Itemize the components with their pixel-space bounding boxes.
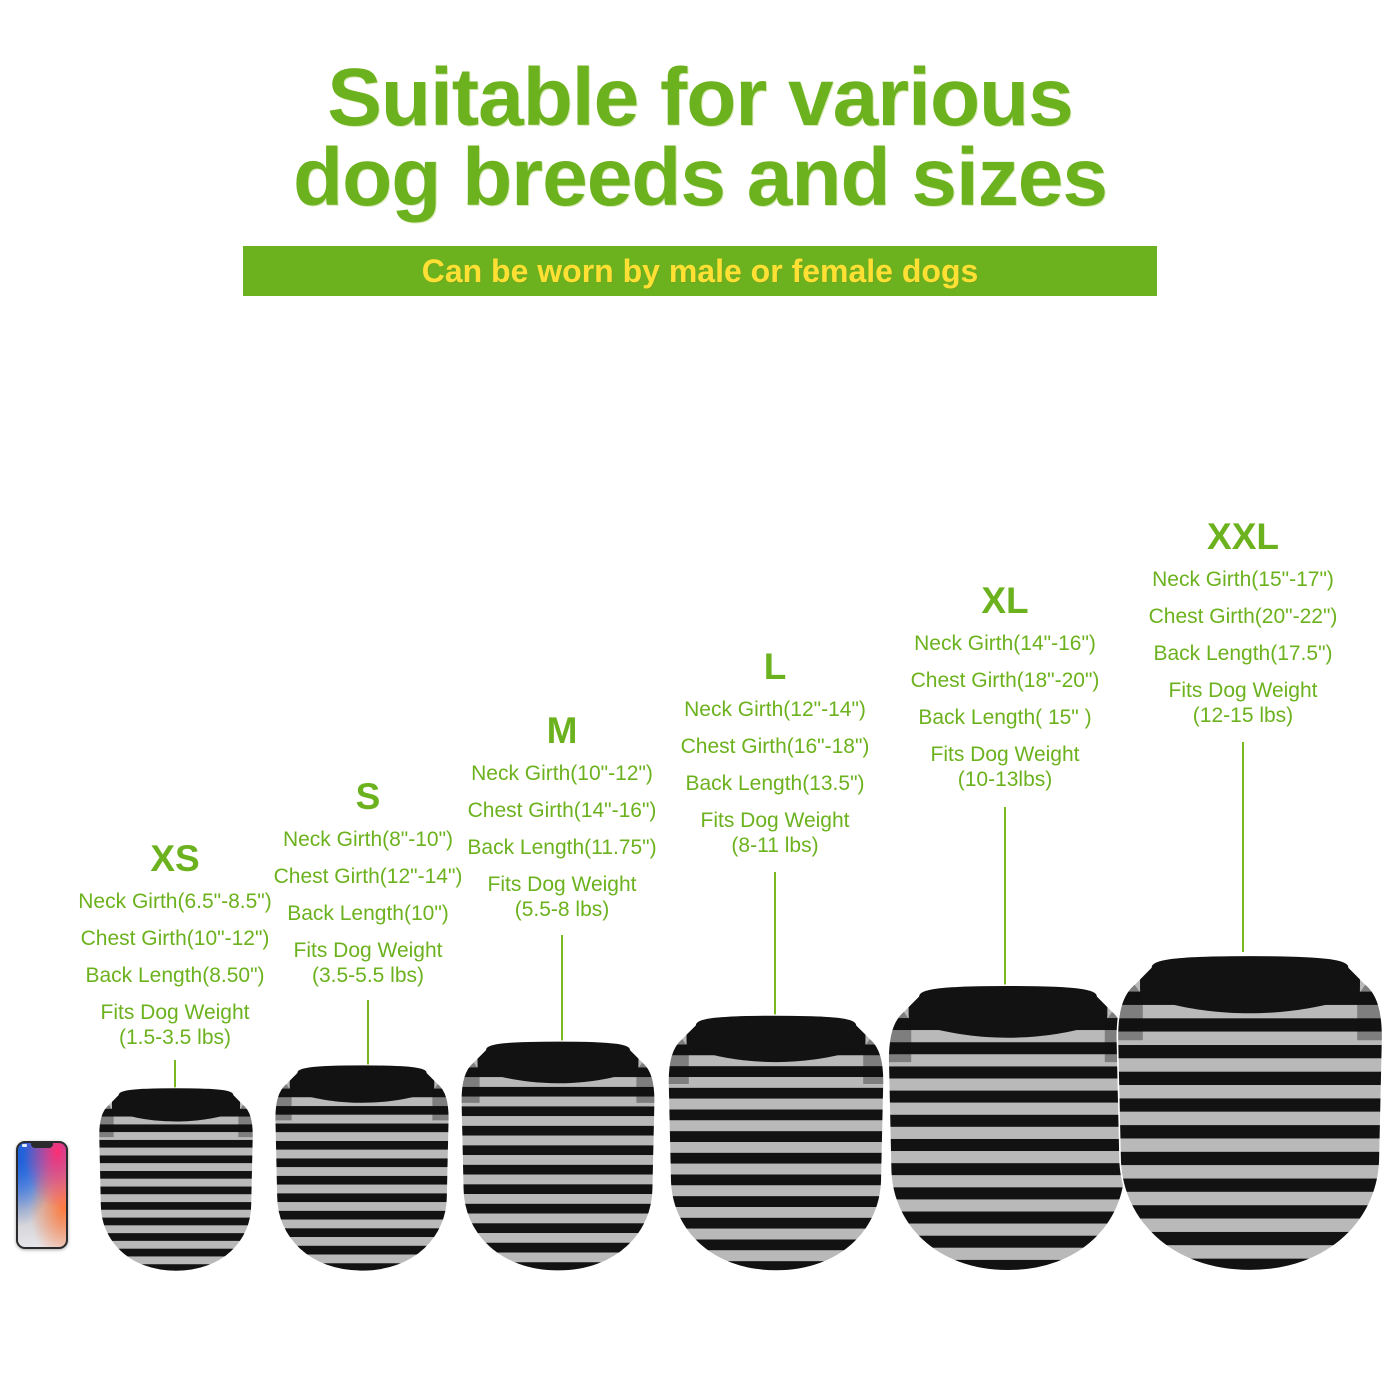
spec-weight-range: (8-11 lbs): [595, 835, 955, 856]
spec-weight-title: Fits Dog Weight: [294, 939, 443, 962]
size-block-xxl: XXLNeck Girth(15"-17")Chest Girth(20"-22…: [1063, 518, 1400, 726]
spec-fits-dog-weight: Fits Dog Weight(12-15 lbs): [1063, 680, 1400, 726]
connector-line-xxl: [1242, 742, 1244, 952]
size-label-xxl: XXL: [1063, 518, 1400, 555]
dog-shirt-s: [274, 1064, 450, 1272]
spec-weight-range: (1.5-3.5 lbs): [0, 1027, 355, 1048]
page-title: Suitable for various dog breeds and size…: [0, 58, 1400, 219]
dog-shirt-xl: [887, 984, 1129, 1272]
spec-weight-range: (3.5-5.5 lbs): [188, 965, 548, 986]
spec-chest-girth: Chest Girth(20"-22"): [1063, 606, 1400, 627]
spec-fits-dog-weight: Fits Dog Weight(1.5-3.5 lbs): [0, 1002, 355, 1048]
connector-line-l: [774, 872, 776, 1015]
spec-fits-dog-weight: Fits Dog Weight(8-11 lbs): [595, 810, 955, 856]
connector-line-xl: [1004, 807, 1006, 985]
subtitle-banner-label: Can be worn by male or female dogs: [422, 253, 979, 290]
subtitle-banner: Can be worn by male or female dogs: [243, 246, 1157, 296]
spec-weight-title: Fits Dog Weight: [1169, 679, 1318, 702]
infographic-canvas: Suitable for various dog breeds and size…: [0, 0, 1400, 1400]
spec-fits-dog-weight: Fits Dog Weight(10-13lbs): [825, 744, 1185, 790]
dog-shirt-m: [460, 1040, 656, 1272]
phone-status-icon: [22, 1144, 27, 1147]
spec-fits-dog-weight: Fits Dog Weight(5.5-8 lbs): [382, 874, 742, 920]
dog-shirt-l: [667, 1014, 885, 1272]
phone-notch: [31, 1143, 53, 1148]
spec-fits-dog-weight: Fits Dog Weight(3.5-5.5 lbs): [188, 940, 548, 986]
phone-size-reference: [16, 1141, 68, 1249]
dog-shirt-xs: [98, 1087, 254, 1272]
spec-weight-range: (10-13lbs): [825, 769, 1185, 790]
spec-weight-title: Fits Dog Weight: [488, 873, 637, 896]
spec-weight-range: (5.5-8 lbs): [382, 899, 742, 920]
spec-weight-title: Fits Dog Weight: [101, 1001, 250, 1024]
phone-screen: [18, 1143, 66, 1247]
spec-neck-girth: Neck Girth(15"-17"): [1063, 569, 1400, 590]
connector-line-m: [561, 935, 563, 1042]
spec-weight-title: Fits Dog Weight: [701, 809, 850, 832]
spec-back-length: Back Length(17.5"): [1063, 643, 1400, 664]
spec-weight-title: Fits Dog Weight: [931, 743, 1080, 766]
connector-line-s: [367, 1000, 369, 1070]
dog-shirt-xxl: [1116, 954, 1384, 1272]
spec-weight-range: (12-15 lbs): [1063, 705, 1400, 726]
